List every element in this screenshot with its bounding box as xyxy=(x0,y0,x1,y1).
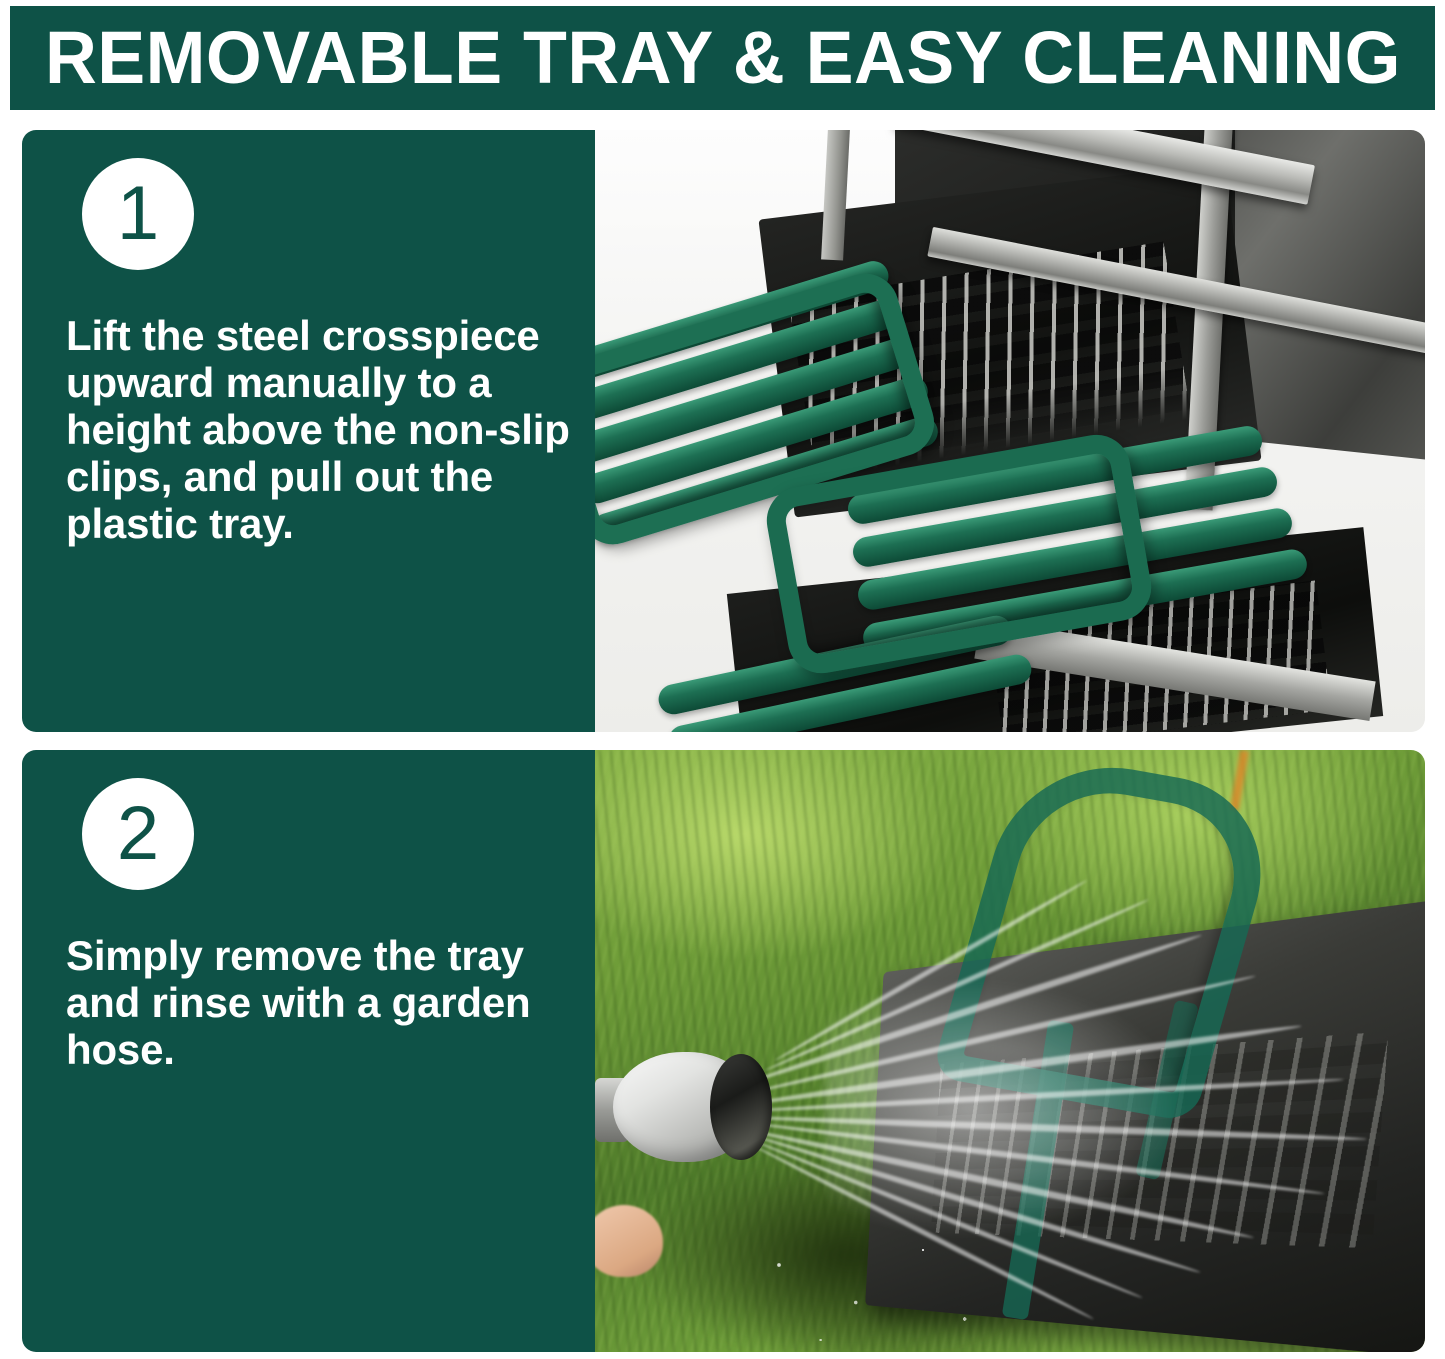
step-2-number: 2 xyxy=(117,796,159,872)
header-banner: REMOVABLE TRAY & EASY CLEANING xyxy=(10,6,1435,110)
step-2-text-card: 2 Simply remove the tray and rinse with … xyxy=(22,750,595,1352)
step-panel-2: 2 Simply remove the tray and rinse with … xyxy=(22,750,1425,1352)
hose-nozzle xyxy=(595,1040,795,1170)
step-1-text-card: 1 Lift the steel crosspiece upward manua… xyxy=(22,130,595,732)
step-2-photo xyxy=(595,750,1425,1352)
step-2-number-badge: 2 xyxy=(82,778,194,890)
hose-rinsing-photo-illustration xyxy=(595,750,1425,1352)
hand-thumb xyxy=(595,1205,663,1277)
tool-rack-photo-illustration xyxy=(595,130,1425,732)
step-panel-1: 1 Lift the steel crosspiece upward manua… xyxy=(22,130,1425,732)
infographic-page: REMOVABLE TRAY & EASY CLEANING 1 Lift th… xyxy=(0,0,1445,1359)
step-1-description: Lift the steel crosspiece upward manuall… xyxy=(66,312,586,547)
step-2-description: Simply remove the tray and rinse with a … xyxy=(66,932,586,1073)
step-1-photo xyxy=(595,130,1425,732)
page-title: REMOVABLE TRAY & EASY CLEANING xyxy=(45,18,1401,98)
step-1-number-badge: 1 xyxy=(82,158,194,270)
step-1-number: 1 xyxy=(117,176,159,252)
